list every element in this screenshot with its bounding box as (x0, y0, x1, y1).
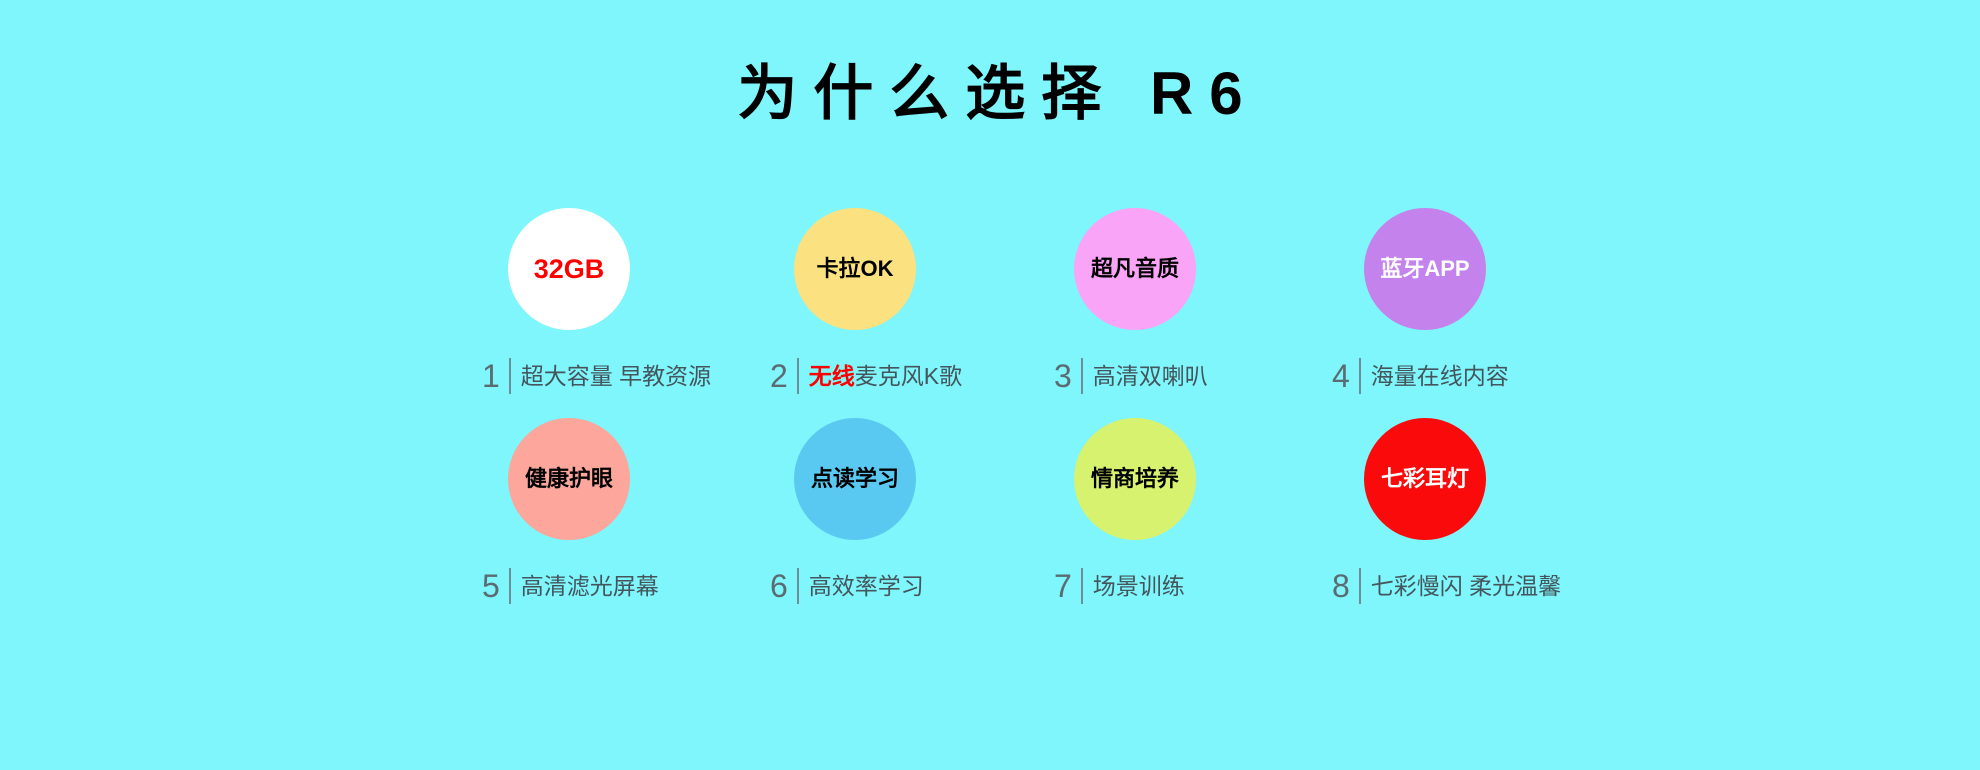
feature-bubble-label: 七彩耳灯 (1381, 467, 1469, 491)
feature-caption-text: 海量在线内容 (1359, 358, 1509, 394)
feature-index: 5 (482, 568, 509, 604)
feature-caption-rest: 高效率学习 (809, 573, 924, 599)
feature-bubble-label: 情商培养 (1091, 467, 1179, 491)
feature-cell: 超凡音质3高清双喇叭 (1004, 200, 1276, 410)
page-title: 为什么选择 R6 (0, 58, 1980, 130)
feature-caption-text: 场景训练 (1081, 568, 1185, 604)
feature-cell: 七彩耳灯8七彩慢闪 柔光温馨 (1276, 410, 1548, 620)
product-feature-poster: 为什么选择 R6 32GB1超大容量 早教资源卡拉OK2无线麦克风K歌超凡音质3… (0, 0, 1980, 770)
feature-bubble-label: 卡拉OK (816, 257, 893, 281)
feature-caption-rest: 高清滤光屏幕 (521, 573, 659, 599)
feature-caption-text: 七彩慢闪 柔光温馨 (1359, 568, 1561, 604)
feature-caption-text: 高清双喇叭 (1081, 358, 1208, 394)
feature-bubble-label: 超凡音质 (1091, 257, 1179, 281)
feature-caption-rest: 海量在线内容 (1371, 363, 1509, 389)
feature-caption: 6高效率学习 (770, 568, 924, 604)
feature-caption-rest: 高清双喇叭 (1093, 363, 1208, 389)
feature-caption: 7场景训练 (1054, 568, 1185, 604)
feature-bubble[interactable]: 情商培养 (1074, 418, 1196, 540)
feature-index: 7 (1054, 568, 1081, 604)
feature-caption-text: 高清滤光屏幕 (509, 568, 659, 604)
feature-cell: 点读学习6高效率学习 (732, 410, 1004, 620)
feature-caption-text: 超大容量 早教资源 (509, 358, 711, 394)
feature-bubble[interactable]: 卡拉OK (794, 208, 916, 330)
feature-bubble[interactable]: 蓝牙APP (1364, 208, 1486, 330)
feature-index: 1 (482, 358, 509, 394)
feature-bubble[interactable]: 健康护眼 (508, 418, 630, 540)
feature-bubble-label: 健康护眼 (525, 467, 613, 491)
feature-cell: 蓝牙APP4海量在线内容 (1276, 200, 1548, 410)
feature-caption-text: 无线麦克风K歌 (797, 358, 962, 394)
feature-caption: 2无线麦克风K歌 (770, 358, 962, 394)
feature-grid: 32GB1超大容量 早教资源卡拉OK2无线麦克风K歌超凡音质3高清双喇叭蓝牙AP… (460, 200, 1550, 620)
feature-bubble[interactable]: 七彩耳灯 (1364, 418, 1486, 540)
feature-caption-rest: 场景训练 (1093, 573, 1185, 599)
feature-bubble-label: 点读学习 (811, 467, 899, 491)
feature-bubble-label: 蓝牙APP (1380, 257, 1469, 281)
feature-index: 8 (1332, 568, 1359, 604)
feature-index: 4 (1332, 358, 1359, 394)
feature-cell: 健康护眼5高清滤光屏幕 (460, 410, 732, 620)
feature-caption: 4海量在线内容 (1332, 358, 1509, 394)
feature-cell: 情商培养7场景训练 (1004, 410, 1276, 620)
feature-cell: 卡拉OK2无线麦克风K歌 (732, 200, 1004, 410)
feature-caption: 5高清滤光屏幕 (482, 568, 659, 604)
feature-index: 2 (770, 358, 797, 394)
feature-caption-highlight: 无线 (809, 363, 855, 389)
feature-caption-text: 高效率学习 (797, 568, 924, 604)
feature-bubble[interactable]: 超凡音质 (1074, 208, 1196, 330)
feature-caption: 3高清双喇叭 (1054, 358, 1208, 394)
feature-caption-rest: 超大容量 早教资源 (521, 363, 711, 389)
feature-bubble[interactable]: 点读学习 (794, 418, 916, 540)
feature-index: 3 (1054, 358, 1081, 394)
feature-bubble[interactable]: 32GB (508, 208, 630, 330)
feature-index: 6 (770, 568, 797, 604)
feature-caption-rest: 麦克风K歌 (855, 363, 962, 389)
feature-caption-rest: 七彩慢闪 柔光温馨 (1371, 573, 1561, 599)
feature-caption: 8七彩慢闪 柔光温馨 (1332, 568, 1561, 604)
feature-cell: 32GB1超大容量 早教资源 (460, 200, 732, 410)
feature-bubble-label: 32GB (534, 257, 605, 281)
feature-caption: 1超大容量 早教资源 (482, 358, 711, 394)
